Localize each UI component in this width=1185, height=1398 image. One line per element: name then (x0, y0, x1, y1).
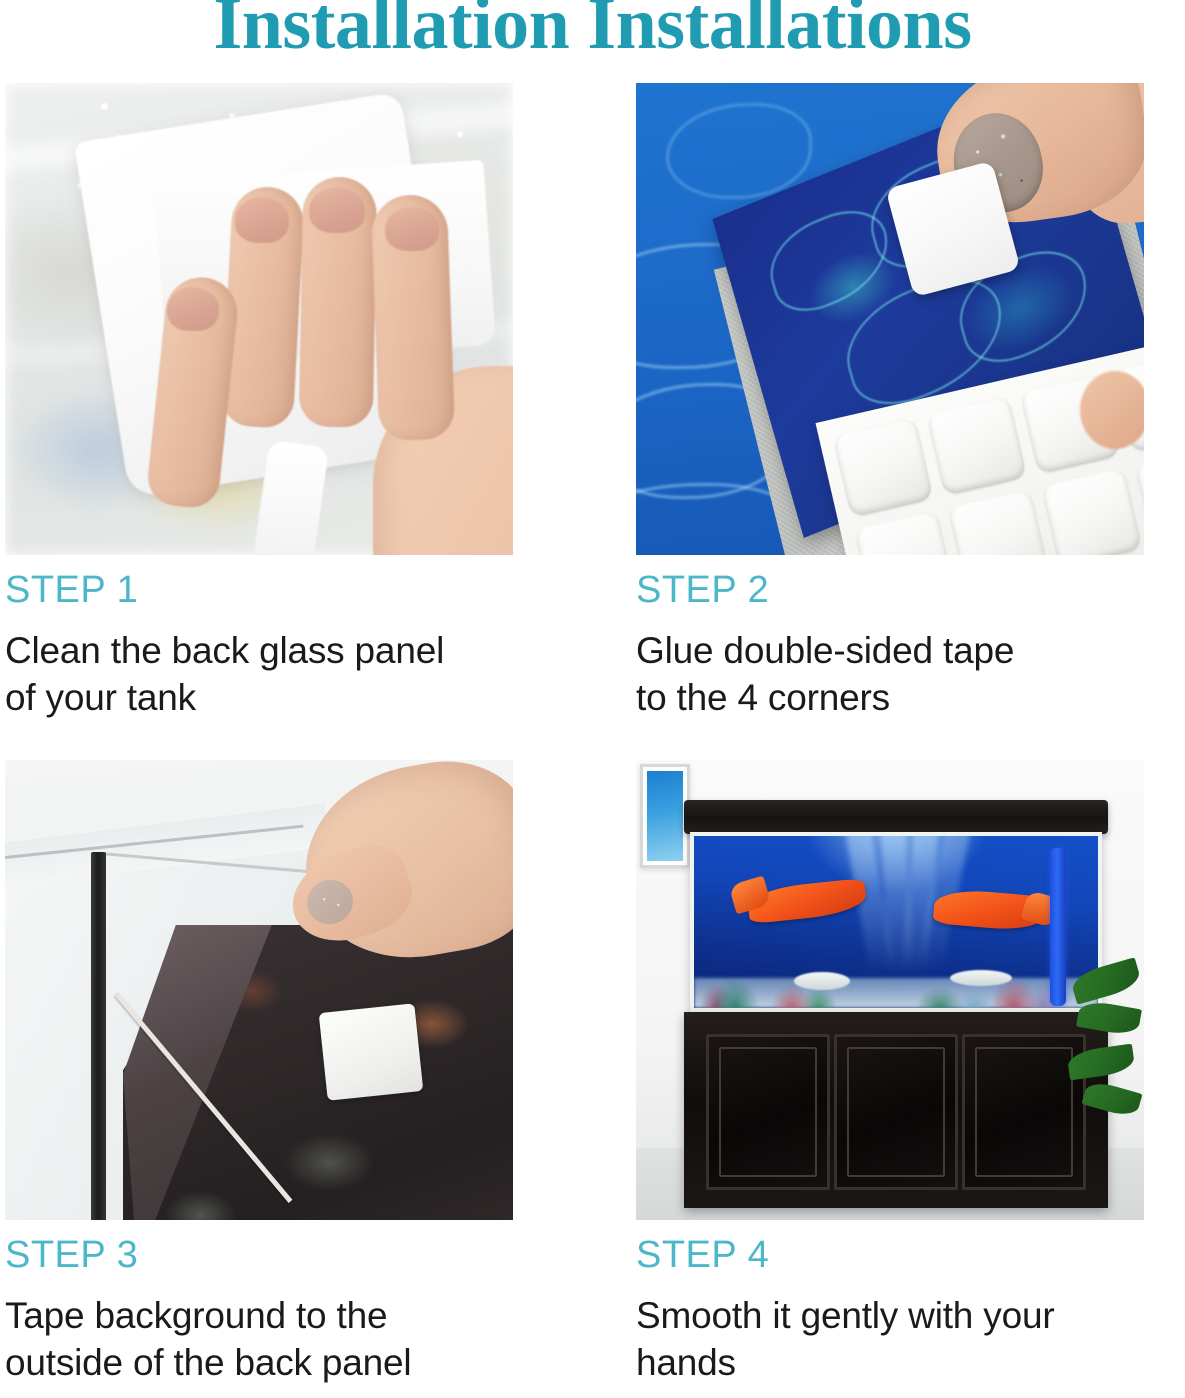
tape-pad (854, 510, 955, 555)
step-1-description: Clean the back glass panel of your tank (5, 627, 513, 722)
plant-leaf (1066, 1044, 1135, 1081)
cabinet-door[interactable] (834, 1034, 958, 1190)
step-2-description: Glue double-sided tape to the 4 corners (636, 627, 1144, 722)
fingernail (309, 187, 365, 233)
step-3-description: Tape background to the outside of the ba… (5, 1292, 513, 1387)
plant-leaf (1076, 999, 1142, 1037)
house-plant (1066, 960, 1144, 1140)
white-rock (794, 972, 850, 990)
tape-pad (1041, 467, 1142, 555)
finger (1080, 371, 1144, 449)
step-4-photo (636, 760, 1144, 1220)
fingernail (385, 207, 439, 251)
step-card-3: STEP 3 Tape background to the outside of… (5, 760, 513, 1387)
tank-corner-trim (91, 852, 106, 1220)
cabinet-door[interactable] (706, 1034, 830, 1190)
step-card-4: STEP 4 Smooth it gently with your hands (636, 760, 1144, 1387)
step-2-photo (636, 83, 1144, 555)
coral-decor (968, 916, 1060, 1008)
framed-artwork (647, 771, 683, 861)
step-1-photo (5, 83, 513, 555)
fingernail (167, 287, 219, 331)
hand (173, 191, 513, 555)
aquarium-tank (690, 832, 1102, 1012)
wall-picture-frame (640, 764, 690, 868)
installation-steps-grid: STEP 1 Clean the back glass panel of you… (0, 0, 1185, 1398)
aquarium-hood (684, 800, 1108, 834)
aquarium-heater-tube (1050, 848, 1066, 1006)
step-4-label: STEP 4 (636, 1236, 1144, 1274)
water-droplet (101, 103, 108, 110)
plant-leaf (1069, 957, 1143, 1005)
aquarium-cabinet-stand (684, 1012, 1108, 1208)
step-card-2: STEP 2 Glue double-sided tape to the 4 c… (636, 83, 1144, 722)
step-1-label: STEP 1 (5, 571, 513, 609)
step-3-label: STEP 3 (5, 1236, 513, 1274)
step-2-label: STEP 2 (636, 571, 1144, 609)
tape-pad (948, 489, 1049, 555)
fingernail (235, 197, 289, 243)
step-card-1: STEP 1 Clean the back glass panel of you… (5, 83, 513, 722)
tape-pad (926, 395, 1027, 496)
plant-leaf (1082, 1079, 1143, 1119)
tape-pad (319, 1003, 424, 1101)
tape-pad (833, 417, 934, 518)
step-4-description: Smooth it gently with your hands (636, 1292, 1144, 1387)
step-3-photo (5, 760, 513, 1220)
water-droplet (457, 131, 463, 137)
white-rock (950, 970, 1012, 986)
